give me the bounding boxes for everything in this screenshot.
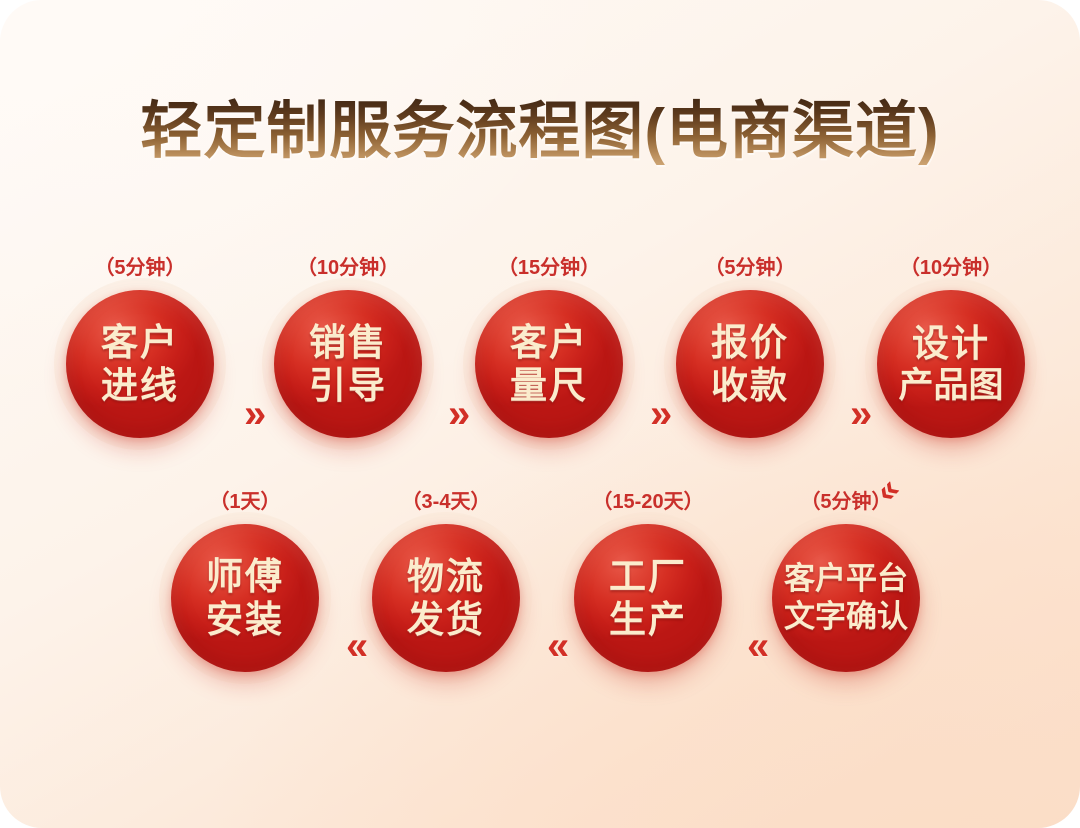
step-circle[interactable]: 客户平台文字确认 <box>772 524 920 672</box>
step-circle[interactable]: 客户量尺 <box>475 290 623 438</box>
step-label-line1: 师傅 <box>206 555 284 598</box>
step-label-line2: 量尺 <box>510 364 588 407</box>
step-label-line2: 进线 <box>101 364 179 407</box>
page-title-wrap: 轻定制服务流程图(电商渠道) <box>0 96 1080 168</box>
flow-arrow-chevron-icon: « <box>747 626 763 666</box>
step-label-line2: 产品图 <box>898 365 1003 406</box>
step-circle[interactable]: 设计产品图 <box>877 290 1025 438</box>
step-duration-label: （1天） <box>150 490 340 514</box>
flow-row-1: （5分钟）客户进线（10分钟）销售引导（15分钟）客户量尺（5分钟）报价收款（1… <box>0 256 1080 456</box>
step-circle[interactable]: 工厂生产 <box>574 524 722 672</box>
flow-arrow-chevron-icon: « <box>547 626 563 666</box>
step-label-line1: 工厂 <box>609 555 687 598</box>
step-duration-label: （10分钟） <box>856 256 1046 280</box>
step-circle[interactable]: 客户进线 <box>66 290 214 438</box>
step-label-line2: 安装 <box>206 598 284 641</box>
flow-arrow-chevron-icon: » <box>244 394 260 434</box>
step-duration-label: （5分钟） <box>655 256 845 280</box>
page-title: 轻定制服务流程图(电商渠道) <box>140 96 939 168</box>
step-label-line1: 客户 <box>510 321 588 364</box>
flowchart-card: 轻定制服务流程图(电商渠道) （5分钟）客户进线（10分钟）销售引导（15分钟）… <box>0 0 1080 828</box>
step-duration-label: （5分钟） <box>751 490 941 514</box>
step-label-line2: 发货 <box>407 598 485 641</box>
flow-row-2: （1天）师傅安装（3-4天）物流发货（15-20天）工厂生产（5分钟）客户平台文… <box>0 514 1080 744</box>
step-duration-label: （15分钟） <box>454 256 644 280</box>
step-label-line1: 报价 <box>711 321 789 364</box>
step-label-line1: 设计 <box>912 322 990 365</box>
step-duration-label: （3-4天） <box>351 490 541 514</box>
step-label-line1: 客户 <box>101 321 179 364</box>
step-label-line2: 生产 <box>609 598 687 641</box>
flow-arrow-chevron-icon: » <box>650 394 666 434</box>
step-circle[interactable]: 销售引导 <box>274 290 422 438</box>
step-duration-label: （5分钟） <box>45 256 235 280</box>
step-duration-label: （15-20天） <box>553 490 743 514</box>
step-label-line2: 收款 <box>711 364 789 407</box>
step-label-line2: 文字确认 <box>784 598 908 636</box>
step-circle[interactable]: 报价收款 <box>676 290 824 438</box>
flow-arrow-chevron-icon: » <box>448 394 464 434</box>
flow-arrow-chevron-icon: « <box>346 626 362 666</box>
step-label-line2: 引导 <box>309 364 387 407</box>
step-duration-label: （10分钟） <box>253 256 443 280</box>
step-circle[interactable]: 师傅安装 <box>171 524 319 672</box>
step-circle[interactable]: 物流发货 <box>372 524 520 672</box>
flow-arrow-chevron-icon: » <box>850 394 866 434</box>
step-label-line1: 物流 <box>407 555 485 598</box>
step-label-line1: 销售 <box>309 321 387 364</box>
step-label-line1: 客户平台 <box>784 560 908 598</box>
